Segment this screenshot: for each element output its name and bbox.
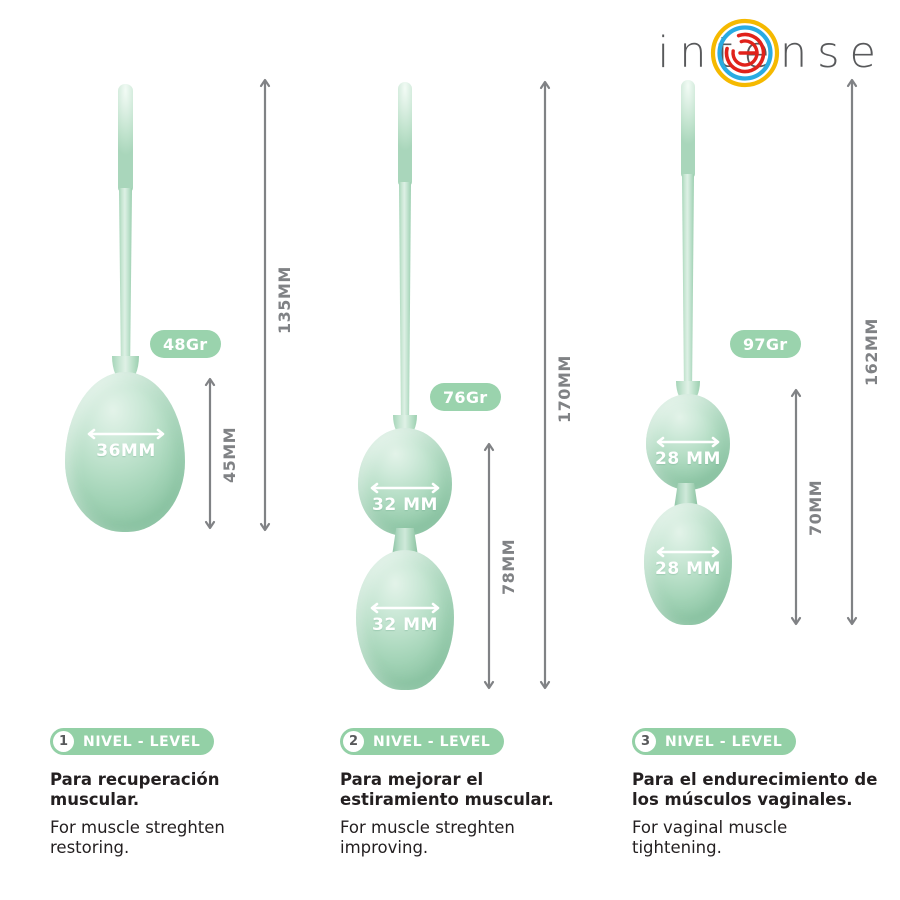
product-3-weight-badge: 97Gr [730,330,801,358]
product-2-ball-lower-width-label: 32 MM [368,615,442,635]
product-2-handle [398,82,412,186]
width-arrow-icon [368,602,442,614]
product-column-2: 32 MM 32 MM 76Gr 78MM [290,0,590,720]
level-1-badge: 1 NIVEL - LEVEL [50,728,214,755]
level-1-title-en: For muscle streghten restoring. [50,818,340,859]
product-2-total-length-dimension: 170MM [538,78,552,692]
product-3-total-length-dimension: 162MM [845,76,859,628]
product-2-ball-upper-width-label: 32 MM [368,495,442,515]
level-1-caption: NIVEL - LEVEL [83,734,200,750]
product-3-insert-length-label: 70MM [806,480,825,536]
product-3-stem [682,174,694,386]
product-3-ball-upper-width-label: 28 MM [654,449,722,469]
double-arrow-icon [203,375,217,532]
level-3-title-en: For vaginal muscle tightening. [632,818,900,859]
level-2-badge: 2 NIVEL - LEVEL [340,728,504,755]
product-2-stem [399,182,411,420]
level-3-number: 3 [635,731,656,752]
product-1-insert-length-label: 45MM [220,427,239,483]
infographic-canvas: intense 36MM [0,0,900,900]
product-1-stem [119,188,132,360]
level-block-3: 3 NIVEL - LEVEL Para el endurecimiento d… [632,728,900,858]
product-3-ball-lower-width-label: 28 MM [654,559,722,579]
level-2-caption: NIVEL - LEVEL [373,734,490,750]
level-1-number: 1 [53,731,74,752]
product-1-weight-badge: 48Gr [150,330,221,358]
double-arrow-icon [845,76,859,628]
level-block-1: 1 NIVEL - LEVEL Para recuperación muscul… [50,728,340,858]
double-arrow-icon [258,76,272,534]
product-1-insert-length-dimension: 45MM [203,375,217,532]
level-2-title-en: For muscle streghten improving. [340,818,630,859]
width-arrow-icon [85,428,167,440]
product-2-total-length-label: 170MM [555,355,574,423]
product-2-insert-length-label: 78MM [499,539,518,595]
level-2-number: 2 [343,731,364,752]
level-3-caption: NIVEL - LEVEL [665,734,782,750]
double-arrow-icon [789,386,803,628]
product-3-handle [681,80,695,178]
double-arrow-icon [482,440,496,692]
product-3-insert-length-dimension: 70MM [789,386,803,628]
level-3-badge: 3 NIVEL - LEVEL [632,728,796,755]
level-3-title-es: Para el endurecimiento de los músculos v… [632,770,900,811]
product-3-total-length-label: 162MM [862,318,881,386]
product-1-handle [118,84,133,192]
level-1-title-es: Para recuperación muscular. [50,770,340,811]
level-block-2: 2 NIVEL - LEVEL Para mejorar el estirami… [340,728,630,858]
product-column-3: 28 MM 28 MM 97Gr 70MM [580,0,880,720]
double-arrow-icon [538,78,552,692]
width-arrow-icon [654,546,722,558]
product-2-weight-badge: 76Gr [430,383,501,411]
product-1-total-length-dimension: 135MM [258,76,272,534]
width-arrow-icon [368,482,442,494]
product-column-1: 36MM 48Gr 45MM 135MM [0,0,300,720]
level-2-title-es: Para mejorar el estiramiento muscular. [340,770,630,811]
product-2-insert-length-dimension: 78MM [482,440,496,692]
product-1-ball-width-label: 36MM [85,441,167,461]
width-arrow-icon [654,436,722,448]
